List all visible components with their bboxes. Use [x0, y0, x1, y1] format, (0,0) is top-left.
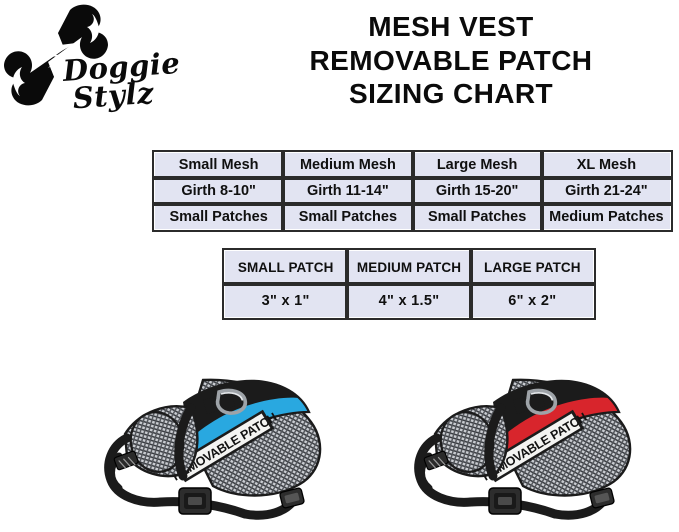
patch-dimension: 4" x 1.5" — [347, 284, 470, 318]
table-row: SMALL PATCH MEDIUM PATCH LARGE PATCH — [224, 250, 594, 284]
mesh-girth-value: Girth 15-20" — [413, 178, 542, 204]
mesh-patch-size: Small Patches — [154, 204, 283, 230]
mesh-patch-size: Small Patches — [283, 204, 412, 230]
page-title-line-2: REMOVABLE PATCH — [228, 44, 674, 78]
table-row: 3" x 1" 4" x 1.5" 6" x 2" — [224, 284, 594, 318]
page-title: MESH VEST REMOVABLE PATCH SIZING CHART — [228, 10, 674, 111]
mesh-size-name: Large Mesh — [413, 152, 542, 178]
patch-dimension: 3" x 1" — [224, 284, 347, 318]
mesh-girth-value: Girth 21-24" — [542, 178, 671, 204]
mesh-size-name: Small Mesh — [154, 152, 283, 178]
brand-wordmark: Doggie Stylz — [62, 47, 225, 114]
table-row: Small Mesh Medium Mesh Large Mesh XL Mes… — [154, 152, 671, 178]
patch-header: LARGE PATCH — [471, 250, 594, 284]
page-title-line-1: MESH VEST — [228, 10, 674, 44]
patch-dimension: 6" x 2" — [471, 284, 594, 318]
product-image-blue-mesh-vest: REMOVABLE PATCH — [95, 372, 345, 532]
patch-header: MEDIUM PATCH — [347, 250, 470, 284]
table-row: Girth 8-10" Girth 11-14" Girth 15-20" Gi… — [154, 178, 671, 204]
mesh-patch-size: Medium Patches — [542, 204, 671, 230]
patch-dimension-table: SMALL PATCH MEDIUM PATCH LARGE PATCH 3" … — [222, 248, 596, 320]
sizing-chart-page: Doggie Stylz MESH VEST REMOVABLE PATCH S… — [0, 0, 679, 532]
strap-buckle — [489, 488, 521, 514]
mesh-size-name: Medium Mesh — [283, 152, 412, 178]
strap-buckle — [179, 488, 211, 514]
mesh-size-table: Small Mesh Medium Mesh Large Mesh XL Mes… — [152, 150, 673, 232]
product-image-red-mesh-vest: REMOVABLE PATCH — [405, 372, 655, 532]
brand-name-line-2: Stylz — [64, 75, 226, 114]
table-row: Small Patches Small Patches Small Patche… — [154, 204, 671, 230]
brand-logo: Doggie Stylz — [4, 2, 219, 142]
mesh-patch-size: Small Patches — [413, 204, 542, 230]
patch-header: SMALL PATCH — [224, 250, 347, 284]
page-title-line-3: SIZING CHART — [228, 77, 674, 111]
mesh-girth-value: Girth 8-10" — [154, 178, 283, 204]
mesh-size-name: XL Mesh — [542, 152, 671, 178]
mesh-girth-value: Girth 11-14" — [283, 178, 412, 204]
